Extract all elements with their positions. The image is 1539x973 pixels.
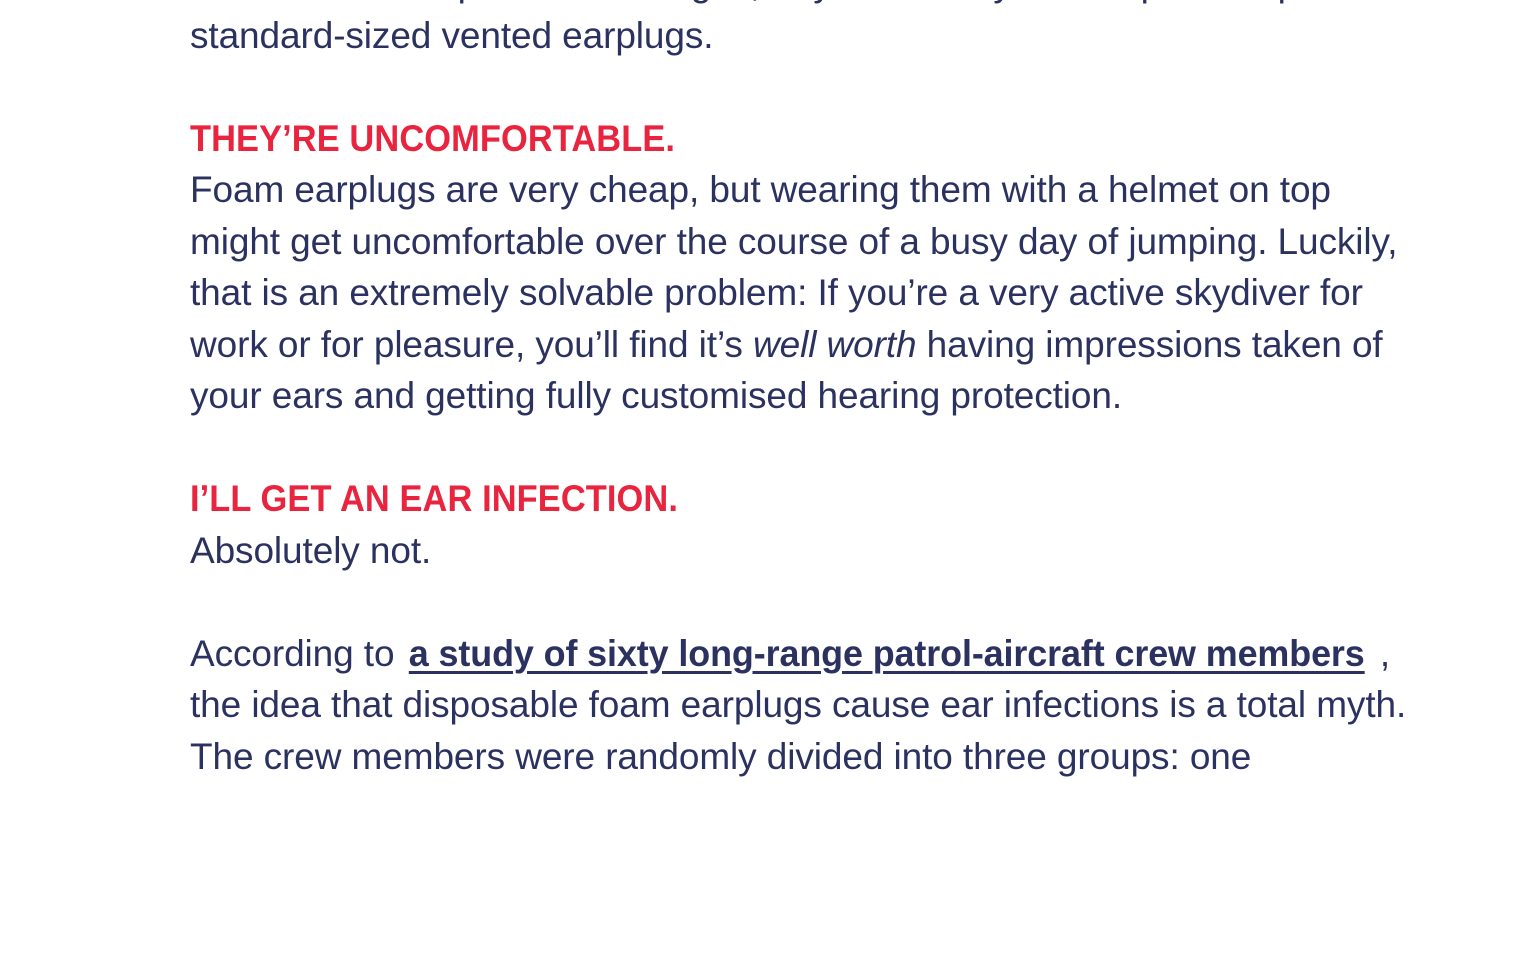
paragraph-spacer — [190, 422, 1430, 474]
link-study-of-sixty-crew-members[interactable]: a study of sixty long-range patrol-aircr… — [409, 628, 1365, 680]
article-page: vent to allow for pressure changes, or y… — [0, 0, 1539, 973]
article-body: vent to allow for pressure changes, or y… — [190, 0, 1430, 782]
paragraph-study-part1: According to — [190, 633, 394, 674]
paragraph-uncomfortable: Foam earplugs are very cheap, but wearin… — [190, 164, 1430, 422]
paragraph-vented-earplugs: vent to allow for pressure changes, or y… — [190, 0, 1430, 61]
paragraph-spacer — [190, 576, 1430, 628]
paragraph-absolutely-not: Absolutely not. — [190, 525, 1430, 577]
paragraph-spacer — [190, 61, 1430, 113]
paragraph-ear-infection-study: According to a study of sixty long-range… — [190, 628, 1430, 783]
heading-theyre-uncomfortable: THEY’RE UNCOMFORTABLE. — [190, 113, 1343, 165]
heading-ill-get-an-ear-infection: I’LL GET AN EAR INFECTION. — [190, 473, 1343, 525]
emphasis-well-worth: well worth — [753, 324, 917, 365]
